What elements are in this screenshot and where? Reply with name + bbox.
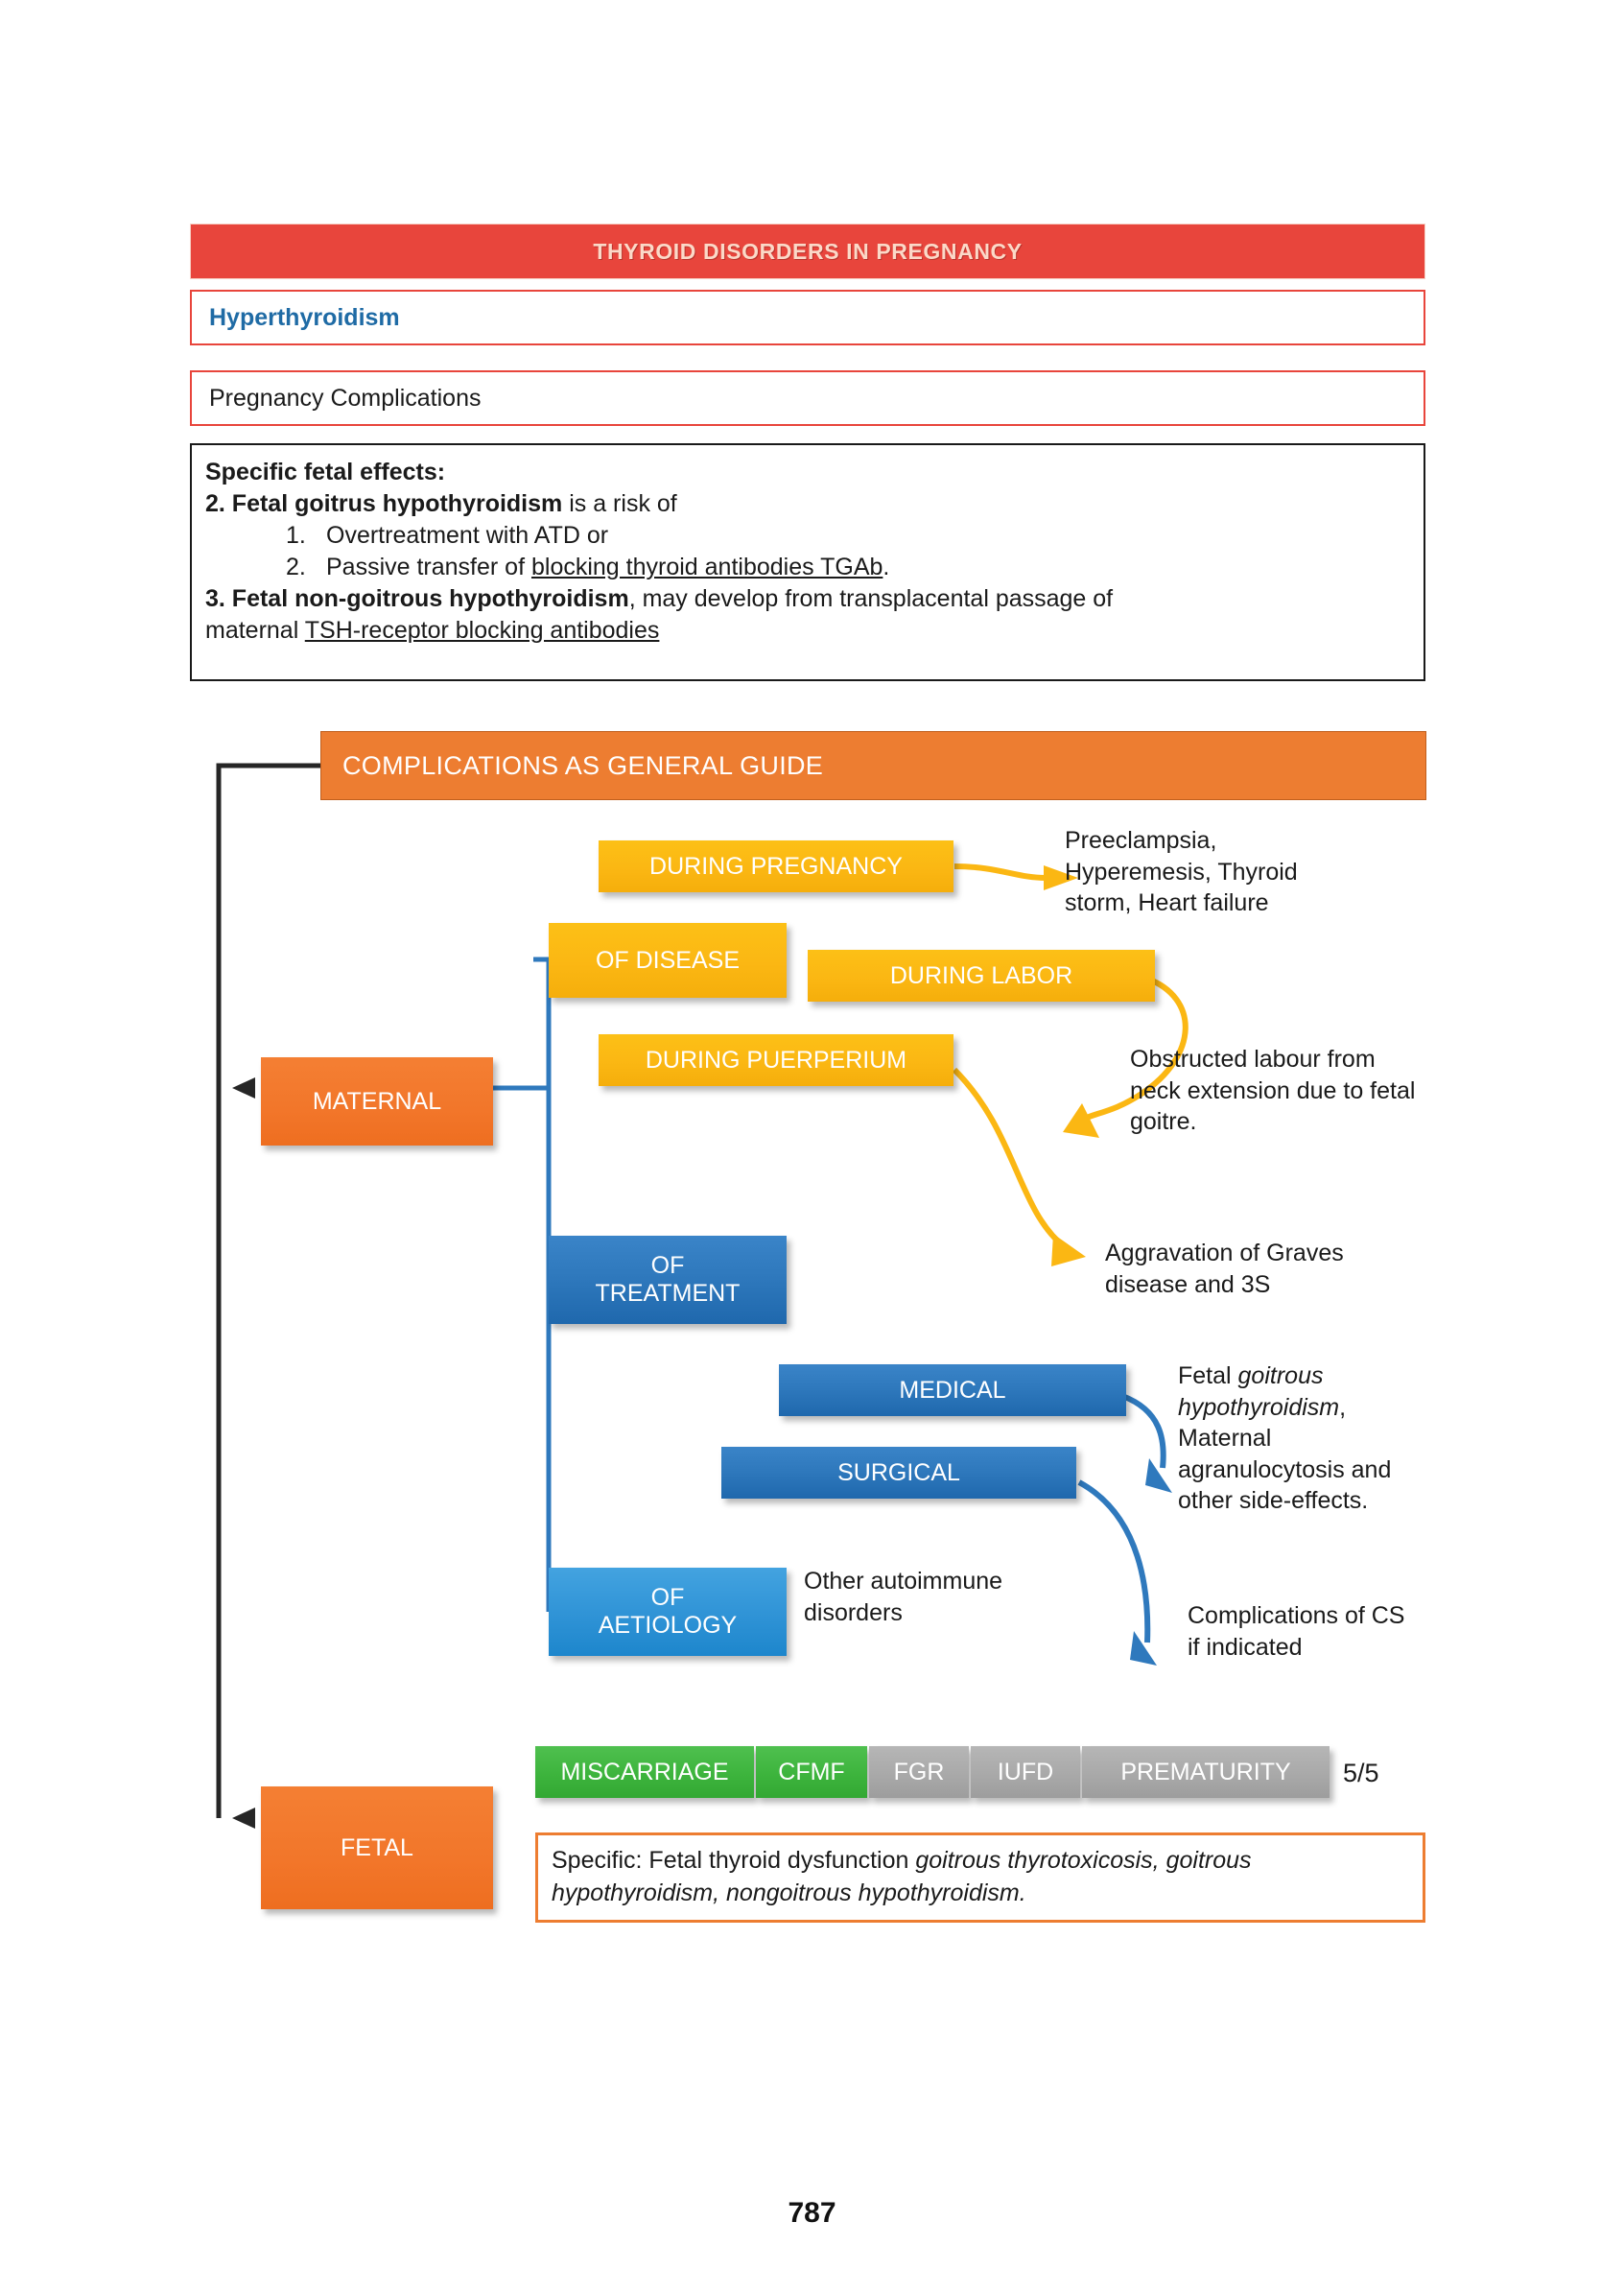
node-during-puerperium-label: DURING PUERPERIUM	[646, 1047, 906, 1075]
tag-fgr-label: FGR	[894, 1759, 945, 1786]
node-of-disease-label: OF DISEASE	[596, 947, 740, 975]
complications-guide-label: COMPLICATIONS AS GENERAL GUIDE	[342, 751, 823, 781]
node-surgical[interactable]: SURGICAL	[721, 1447, 1076, 1499]
fetal-effects-sub-2: 2.Passive transfer of blocking thyroid a…	[286, 552, 1410, 583]
node-of-aetiology[interactable]: OF AETIOLOGY	[549, 1568, 787, 1656]
amber-arrow-puerperium	[954, 1070, 1065, 1247]
arrowhead-fetal	[232, 1808, 255, 1829]
tag-cfmf-label: CFMF	[778, 1759, 844, 1786]
node-of-aetiology-label-line2: AETIOLOGY	[599, 1612, 737, 1640]
tag-iufd[interactable]: IUFD	[971, 1746, 1080, 1798]
note-of-aetiology: Other autoimmune disorders	[804, 1566, 1082, 1628]
page-canvas: THYROID DISORDERS IN PREGNANCY Hyperthyr…	[0, 0, 1624, 2293]
item2-rest: is a risk of	[562, 490, 676, 517]
tag-prematurity[interactable]: PREMATURITY	[1082, 1746, 1330, 1798]
node-during-pregnancy-label: DURING PREGNANCY	[649, 853, 903, 881]
sub2-suffix: .	[883, 554, 889, 580]
subtitle-text: Hyperthyroidism	[192, 304, 400, 332]
note-surgical: Complications of CS if indicated	[1188, 1600, 1418, 1663]
note-during-puerperium: Aggravation of Graves disease and 3S	[1105, 1238, 1412, 1300]
item3-bold: 3. Fetal non-goitrous hypothyroidism	[205, 585, 629, 612]
fetal-effects-item-3: 3. Fetal non-goitrous hypothyroidism, ma…	[205, 583, 1410, 615]
tag-prematurity-label: PREMATURITY	[1120, 1759, 1290, 1786]
section-text: Pregnancy Complications	[192, 385, 481, 413]
node-of-treatment-label-line2: TREATMENT	[596, 1280, 741, 1308]
node-maternal[interactable]: MATERNAL	[261, 1057, 493, 1146]
node-surgical-label: SURGICAL	[837, 1459, 960, 1487]
trunk-line-maternal	[219, 766, 320, 1088]
node-of-treatment-label-line1: OF	[651, 1252, 685, 1280]
page-title-banner: THYROID DISORDERS IN PREGNANCY	[190, 224, 1425, 279]
node-of-treatment[interactable]: OF TREATMENT	[549, 1236, 787, 1324]
page-number: 787	[0, 2197, 1624, 2230]
node-fetal[interactable]: FETAL	[261, 1786, 493, 1909]
tag-cfmf[interactable]: CFMF	[756, 1746, 867, 1798]
sub2-underlined: blocking thyroid antibodies TGAb	[531, 554, 883, 580]
sub1-text: Overtreatment with ATD or	[326, 520, 608, 552]
node-fetal-label: FETAL	[341, 1834, 413, 1862]
node-medical-label: MEDICAL	[899, 1377, 1005, 1405]
note-of-treatment-lead: Fetal	[1178, 1362, 1238, 1389]
tag-iufd-label: IUFD	[998, 1759, 1053, 1786]
amber-arrow-pregnancy	[954, 866, 1046, 878]
specific-fetal-prefix: Specific: Fetal thyroid dysfunction	[552, 1847, 915, 1874]
node-during-puerperium[interactable]: DURING PUERPERIUM	[599, 1034, 953, 1086]
item3-rest: , may develop from transplacental passag…	[629, 585, 1113, 612]
node-during-labor-label: DURING LABOR	[890, 962, 1072, 990]
sub2-number: 2.	[286, 552, 326, 583]
note-of-treatment: Fetal goitrous hypothyroidism, Maternal …	[1178, 1360, 1418, 1517]
item3-line2-prefix: maternal	[205, 617, 305, 644]
specific-fetal-dysfunction-box: Specific: Fetal thyroid dysfunction goit…	[535, 1832, 1425, 1923]
fetal-effects-heading: Specific fetal effects:	[205, 457, 1410, 488]
node-of-disease[interactable]: OF DISEASE	[549, 923, 787, 998]
fetal-score: 5/5	[1343, 1759, 1379, 1788]
sub2-prefix: Passive transfer of	[326, 554, 531, 580]
note-during-labor: Obstructed labour from neck extension du…	[1130, 1044, 1427, 1138]
page-title: THYROID DISORDERS IN PREGNANCY	[593, 239, 1022, 265]
blue-arrowhead-medical	[1145, 1458, 1172, 1493]
tag-fgr[interactable]: FGR	[869, 1746, 969, 1798]
blue-arrow-medical	[1122, 1396, 1164, 1468]
node-during-pregnancy[interactable]: DURING PREGNANCY	[599, 840, 953, 892]
item3-line2-underlined: TSH-receptor blocking antibodies	[305, 617, 660, 644]
tag-miscarriage[interactable]: MISCARRIAGE	[535, 1746, 754, 1798]
node-during-labor[interactable]: DURING LABOR	[808, 950, 1155, 1002]
amber-arrowhead-labor	[1063, 1103, 1099, 1138]
amber-arrowhead-puerperium	[1051, 1234, 1086, 1266]
blue-arrowhead-surgical	[1130, 1631, 1157, 1666]
sub2-line: Passive transfer of blocking thyroid ant…	[326, 552, 889, 583]
tag-miscarriage-label: MISCARRIAGE	[560, 1759, 728, 1786]
fetal-effects-sub-1: 1.Overtreatment with ATD or	[286, 520, 1410, 552]
blue-arrow-surgical	[1079, 1482, 1147, 1643]
section-box: Pregnancy Complications	[190, 370, 1425, 426]
arrowhead-maternal	[232, 1077, 255, 1099]
note-during-pregnancy: Preeclampsia, Hyperemesis, Thyroid storm…	[1065, 825, 1362, 919]
complications-guide-banner: COMPLICATIONS AS GENERAL GUIDE	[320, 731, 1426, 800]
item2-bold: 2. Fetal goitrus hypothyroidism	[205, 490, 562, 517]
fetal-effects-item-2: 2. Fetal goitrus hypothyroidism is a ris…	[205, 488, 1410, 520]
node-maternal-label: MATERNAL	[313, 1088, 441, 1116]
specific-fetal-effects-block: Specific fetal effects: 2. Fetal goitrus…	[190, 443, 1425, 681]
node-of-aetiology-label-line1: OF	[651, 1584, 685, 1612]
node-medical[interactable]: MEDICAL	[779, 1364, 1126, 1416]
fetal-effects-item-3-line2: maternal TSH-receptor blocking antibodie…	[205, 615, 1410, 647]
sub1-number: 1.	[286, 520, 326, 552]
subtitle-box: Hyperthyroidism	[190, 290, 1425, 345]
